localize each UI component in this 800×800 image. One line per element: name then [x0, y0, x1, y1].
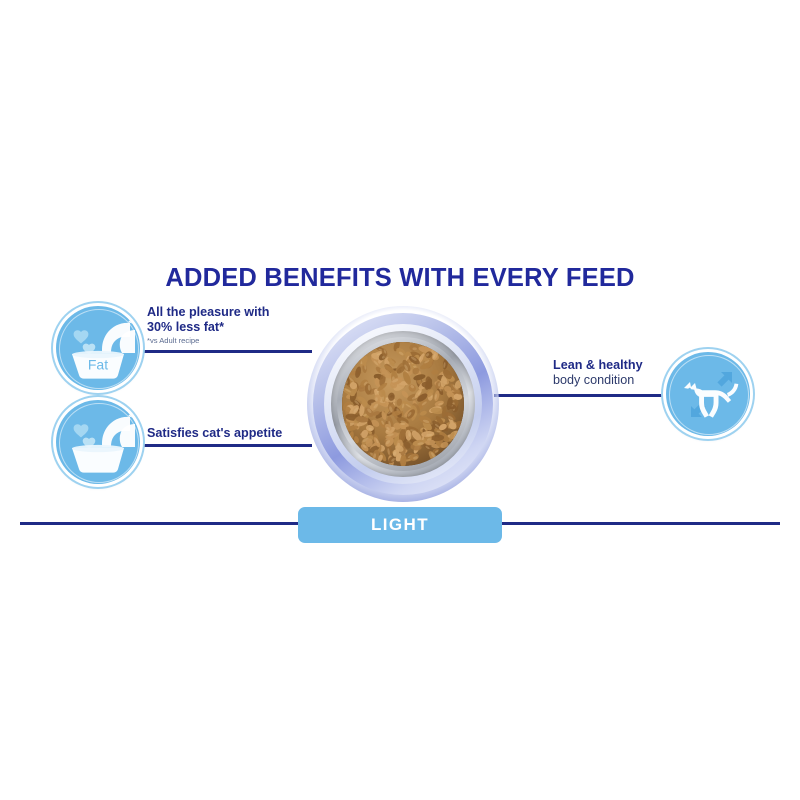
- cat-eating-bowl-fat-icon: Fat: [56, 306, 140, 390]
- benefit-label-lean-body: Lean & healthy body condition: [553, 358, 643, 387]
- connector-line-lean-body: [494, 394, 670, 397]
- bottom-rule-right: [498, 522, 780, 525]
- benefit-headline-lean-body: Lean & healthy: [553, 358, 643, 373]
- benefit-label-appetite: Satisfies cat's appetite: [147, 426, 282, 441]
- benefit-footnote-less-fat: *vs Adult recipe: [147, 336, 269, 345]
- svg-text:Fat: Fat: [88, 357, 108, 373]
- light-variant-label: LIGHT: [371, 515, 429, 535]
- bottom-rule-left: [20, 522, 302, 525]
- kibble-fill: [342, 342, 464, 466]
- connector-line-appetite: [140, 444, 312, 447]
- benefit-subline-lean-body: body condition: [553, 373, 643, 388]
- benefit-label-less-fat: All the pleasure with 30% less fat* *vs …: [147, 305, 269, 345]
- bowl-of-kibble: [307, 306, 499, 502]
- page-title: ADDED BENEFITS WITH EVERY FEED: [0, 264, 800, 293]
- benefit-headline-less-fat: All the pleasure with 30% less fat*: [147, 305, 269, 334]
- light-variant-banner: LIGHT: [298, 507, 502, 543]
- lean-cat-body-condition-icon: [666, 352, 750, 436]
- added-benefits-infographic: ADDED BENEFITS WITH EVERY FEED Fat: [0, 0, 800, 800]
- benefit-headline-appetite: Satisfies cat's appetite: [147, 426, 282, 441]
- connector-line-less-fat: [140, 350, 312, 353]
- cat-eating-bowl-icon: [56, 400, 140, 484]
